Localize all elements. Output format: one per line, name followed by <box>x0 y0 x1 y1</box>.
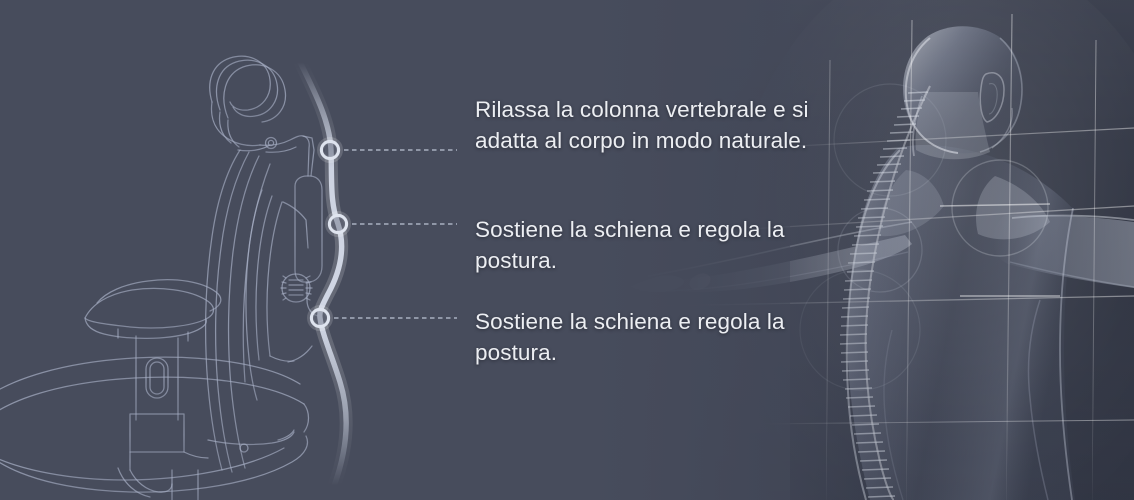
callout-item-3: Sostiene la schiena e regola la postura. <box>475 306 820 368</box>
callout-text-2: Sostiene la schiena e regola la postura. <box>475 214 820 276</box>
callout-text-1: Rilassa la colonna vertebrale e si adatt… <box>475 94 820 156</box>
banner-hero: Rilassa la colonna vertebrale e si adatt… <box>0 0 1134 500</box>
callout-item-1: Rilassa la colonna vertebrale e si adatt… <box>475 94 820 156</box>
callout-text-3: Sostiene la schiena e regola la postura. <box>475 306 820 368</box>
callout-text-group: Rilassa la colonna vertebrale e si adatt… <box>475 0 835 500</box>
callout-item-2: Sostiene la schiena e regola la postura. <box>475 214 820 276</box>
